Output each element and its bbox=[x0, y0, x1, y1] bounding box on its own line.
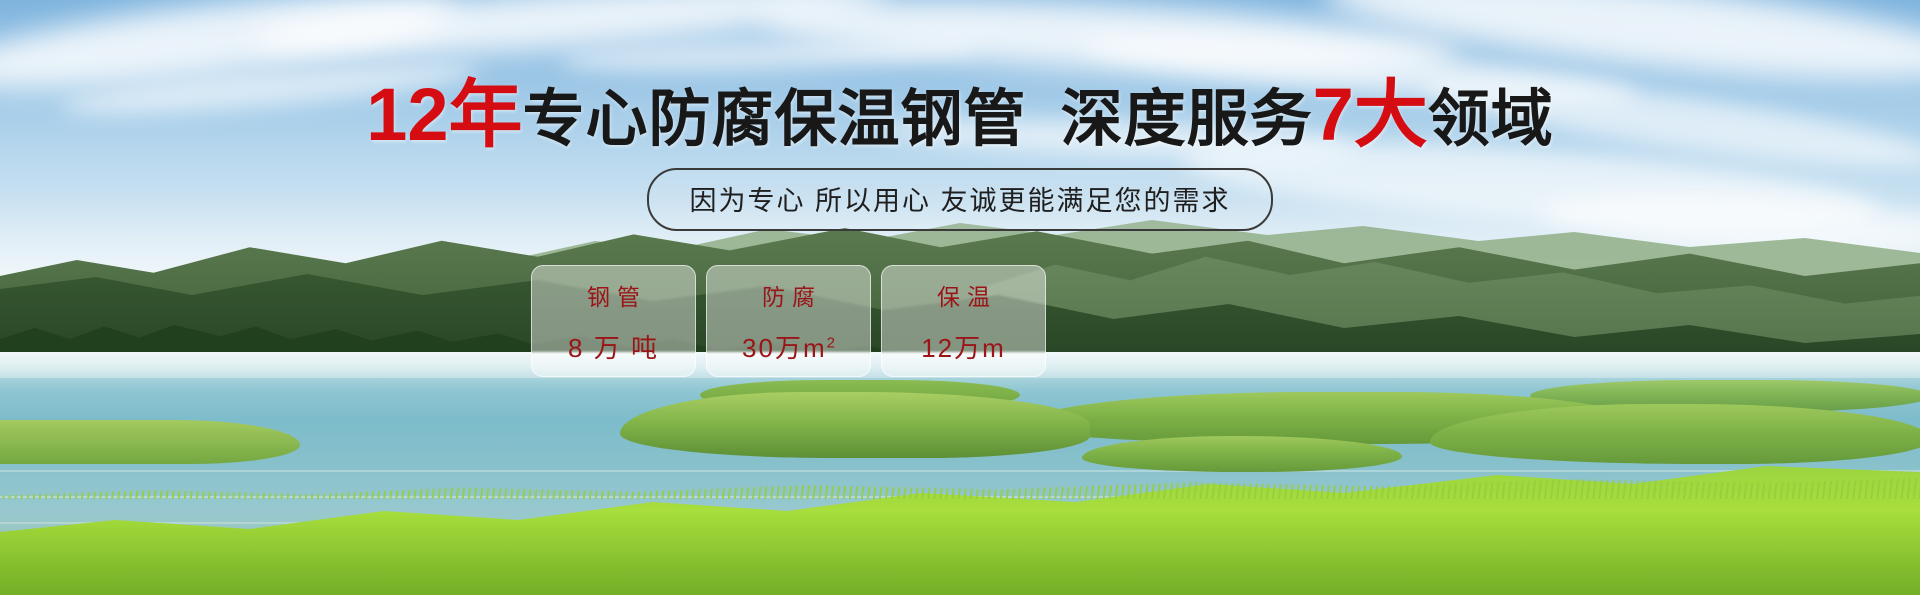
grass-shadow bbox=[0, 509, 1920, 595]
stat-card-value-superscript: 2 bbox=[827, 334, 835, 351]
headline-years: 12年 bbox=[366, 73, 522, 156]
headline-seven: 7大 bbox=[1313, 73, 1428, 156]
stat-card-value-main: 8 万 吨 bbox=[568, 333, 659, 363]
marsh-island bbox=[620, 392, 1090, 458]
page-title: 12年专心防腐保温钢管深度服务7大领域 bbox=[0, 78, 1920, 152]
stat-card-value: 30万m2 bbox=[742, 328, 835, 365]
stat-card-anticorrosion[interactable]: 防腐 30万m2 bbox=[706, 265, 871, 377]
stat-card-value-main: 12万m bbox=[921, 333, 1006, 363]
stat-card-label: 钢管 bbox=[580, 278, 647, 312]
water-ripple bbox=[0, 470, 1920, 472]
subtitle-container: 因为专心 所以用心 友诚更能满足您的需求 bbox=[0, 168, 1920, 231]
stat-card-value: 8 万 吨 bbox=[568, 328, 659, 365]
marsh-island bbox=[0, 420, 300, 464]
stat-card-list: 钢管 8 万 吨 防腐 30万m2 保温 12万m bbox=[531, 265, 1046, 377]
marsh-island bbox=[1430, 404, 1920, 464]
stat-card-steel-pipe[interactable]: 钢管 8 万 吨 bbox=[531, 265, 696, 377]
stat-card-value: 12万m bbox=[921, 328, 1006, 365]
headline-service: 深度服务 bbox=[1061, 85, 1313, 154]
headline-fields: 领域 bbox=[1428, 85, 1554, 154]
stat-card-label: 防腐 bbox=[755, 278, 822, 312]
marsh-island bbox=[1082, 436, 1402, 472]
promo-banner: 12年专心防腐保温钢管深度服务7大领域 因为专心 所以用心 友诚更能满足您的需求… bbox=[0, 0, 1920, 595]
stat-card-label: 保温 bbox=[930, 278, 997, 312]
subtitle-pill: 因为专心 所以用心 友诚更能满足您的需求 bbox=[647, 168, 1272, 231]
stat-card-insulation[interactable]: 保温 12万m bbox=[881, 265, 1046, 377]
headline-product: 专心防腐保温钢管 bbox=[523, 85, 1027, 154]
stat-card-value-main: 30万m bbox=[742, 333, 827, 363]
